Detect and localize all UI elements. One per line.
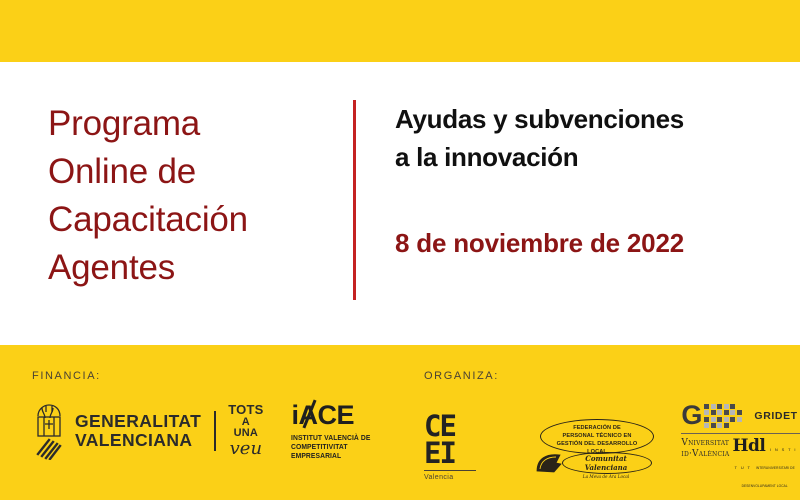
ceei-subtitle: Valencia [424,474,476,481]
federacion-comunitat-text: Comunitat Valenciana La Meva de Ara Loca… [566,454,646,481]
ivace-wordmark: iACE [291,402,354,429]
federacion-cv-line: Comunitat Valenciana [585,454,628,472]
ceei-logo: CE EI Valencia [424,413,476,480]
top-yellow-band [0,0,800,62]
generalitat-separator [214,411,216,451]
gridet-rule [681,433,800,434]
organiza-label: ORGANIZA: [424,370,800,382]
organiza-logo-row: CE EI Valencia FEDERACIÓN DE PERSONAL TÉ… [424,402,800,492]
subject-column: Ayudas y subvenciones a la innovación 8 … [354,62,800,345]
poster-canvas: Programa Online de Capacitación Agentes … [0,0,800,500]
hdl-logo: Hdl I N S T I T U T INTERUNIVERSITARI DE… [729,438,800,492]
program-title-column: Programa Online de Capacitación Agentes [0,62,354,345]
financia-label: FINANCIA: [32,370,400,382]
gridet-g-letter: G [681,402,702,429]
bottom-yellow-band: FINANCIA: [0,345,800,500]
universitat-valencia-wordmark: Vniversitat id·València [681,438,729,460]
hdl-wordmark: Hdl [732,436,765,456]
organiza-group: ORGANIZA: CE EI Valencia FEDERACIÓN DE P… [400,345,800,500]
ivace-mark-i: i [291,400,298,430]
generalitat-wordmark: GENERALITAT VALENCIANA [75,412,201,450]
generalitat-valenciana-logo: GENERALITAT VALENCIANA TOTS A UNA veu [32,402,263,460]
gridet-bottom-row: Vniversitat id·València Hdl I N S T I T … [681,438,800,492]
ivace-subtitle: INSTITUT VALENCIÀ DE COMPETITIVITAT EMPR… [291,433,393,460]
ceei-wordmark: CE EI [424,413,476,466]
tots-a-una-veu-mark: TOTS A UNA veu [228,403,263,458]
tots-line-1: TOTS [228,403,263,416]
federacion-cv-sub: La Meva de Ara Local [566,472,646,481]
subject-title: Ayudas y subvenciones a la innovación [395,100,800,176]
gridet-top-row: G GRIDET [681,402,800,429]
gridet-pixel-grid-icon [704,404,748,429]
main-content: Programa Online de Capacitación Agentes … [0,62,800,345]
tots-line-2: A UNA [228,417,263,439]
gridet-logo: G GRIDET Vniversitat id·València [681,402,800,492]
tots-line-3: veu [228,440,263,458]
ivace-logo: iACE INSTITUT VALENCIÀ DE COMPETITIVITAT… [291,402,400,460]
page-title: Programa Online de Capacitación Agentes [48,100,354,292]
financia-group: FINANCIA: [0,345,400,500]
gridet-wordmark: GRIDET [754,410,797,422]
generalitat-shield-icon [32,402,66,460]
financia-logo-row: GENERALITAT VALENCIANA TOTS A UNA veu iA… [32,402,400,460]
federacion-logo: FEDERACIÓN DE PERSONAL TÉCNICO EN GESTIÓ… [532,419,637,475]
event-date: 8 de noviembre de 2022 [395,228,684,259]
federacion-fan-icon [534,451,564,473]
